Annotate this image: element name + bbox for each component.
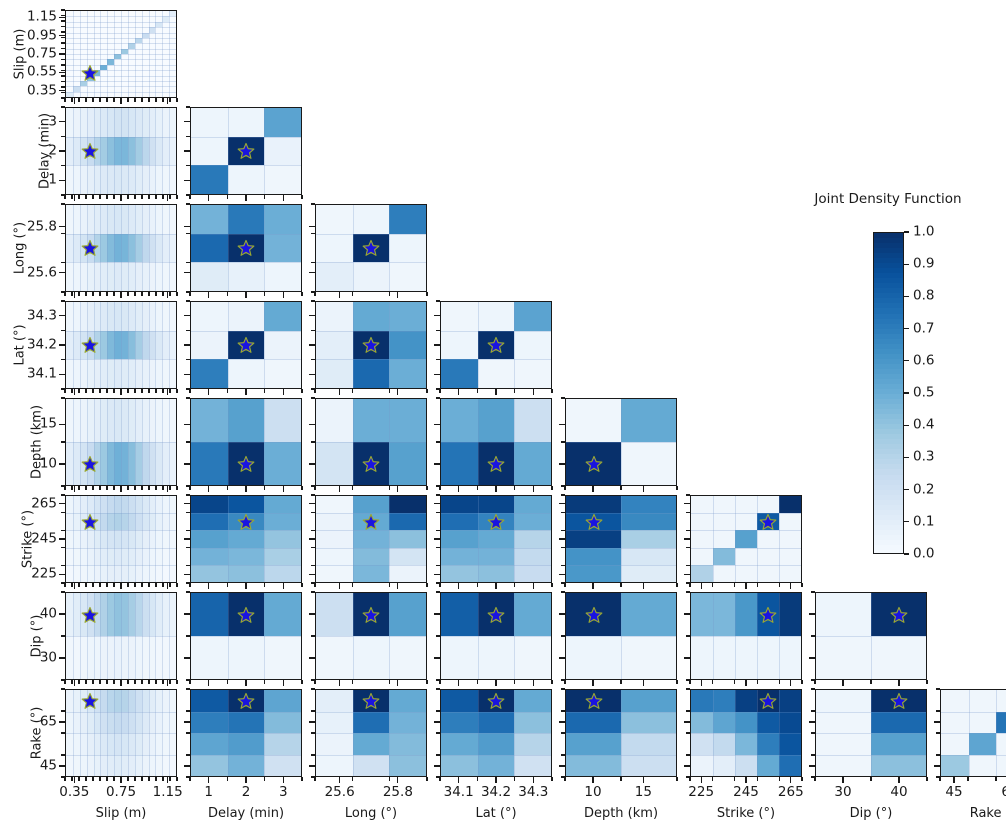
colorbar: Joint Density Function1.00.90.80.70.60.5… — [0, 0, 1006, 830]
colorbar-title: Joint Density Function — [813, 191, 963, 207]
colorbar-tick-label: 0.0 — [913, 547, 934, 561]
colorbar-tick-label: 1.0 — [913, 225, 934, 239]
colorbar-tick — [904, 328, 909, 329]
colorbar-tick-label: 0.2 — [913, 483, 934, 497]
colorbar-tick-label: 0.8 — [913, 290, 934, 304]
colorbar-segment — [874, 550, 903, 554]
colorbar-tick-label: 0.9 — [913, 257, 934, 271]
colorbar-tick — [904, 231, 909, 232]
colorbar-tick-label: 0.7 — [913, 322, 934, 336]
colorbar-tick — [904, 457, 909, 458]
colorbar-tick — [904, 425, 909, 426]
corner-plot-figure: 0.350.751.15Slip (m)123Delay (min)25.625… — [0, 0, 1006, 830]
colorbar-tick-label: 0.3 — [913, 451, 934, 465]
colorbar-tick — [904, 553, 909, 554]
colorbar-tick-label: 0.1 — [913, 515, 934, 529]
colorbar-tick — [904, 489, 909, 490]
colorbar-tick — [904, 264, 909, 265]
colorbar-tick — [904, 392, 909, 393]
colorbar-tick — [904, 521, 909, 522]
colorbar-tick — [904, 360, 909, 361]
colorbar-tick-label: 0.6 — [913, 354, 934, 368]
colorbar-tick — [904, 296, 909, 297]
colorbar-tick-label: 0.4 — [913, 418, 934, 432]
colorbar-tick-label: 0.5 — [913, 386, 934, 400]
colorbar-gradient — [873, 232, 904, 554]
